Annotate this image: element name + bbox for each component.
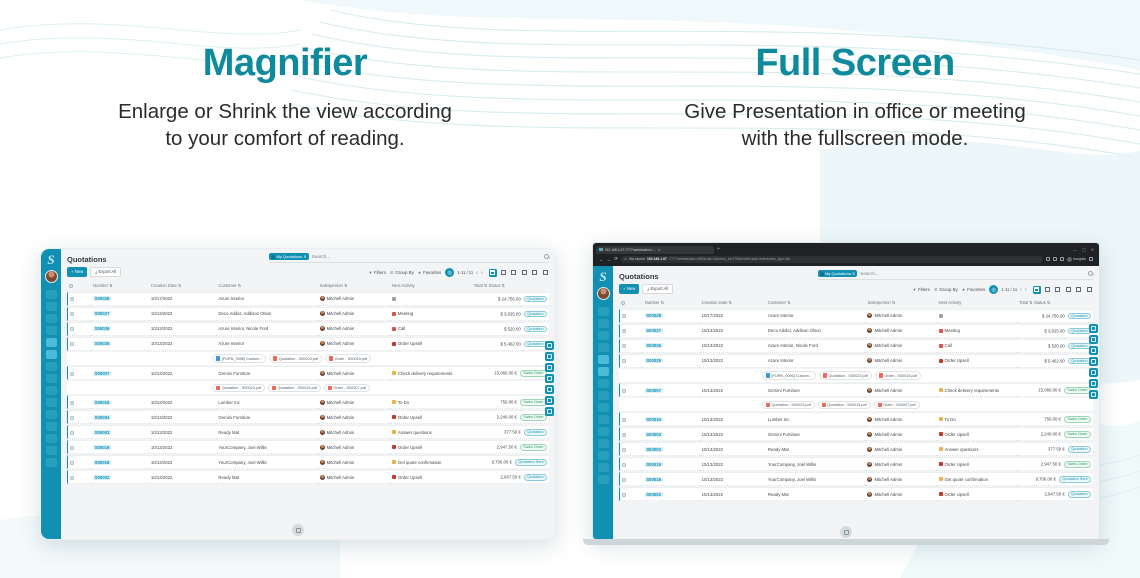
cell-customer: Gemini Furniture (766, 427, 866, 441)
attachment-chip[interactable]: Quotation - S00023.pdf (269, 354, 322, 362)
row-checkbox[interactable] (619, 383, 643, 397)
col-creation-date[interactable]: Creation Date ⇅ (700, 298, 766, 308)
odoo-app-tablet: S Q (41, 249, 555, 539)
cell-creation-date: 10/13/2022 (700, 383, 766, 397)
calendar-icon (392, 312, 396, 316)
table-row[interactable]: S0002610/13/2022Azure Interior, Nicole F… (67, 322, 549, 336)
pdf-icon (878, 403, 882, 408)
browser-tab[interactable]: 192.168.1.67:7777/web#action=... ✕ (596, 246, 714, 254)
table-row[interactable]: S0001610/13/2022Lumber IncMitchell Admin… (619, 412, 1093, 426)
pager-range: 1-11 / 11 (1001, 287, 1017, 292)
cell-number[interactable]: S00016 (91, 395, 149, 409)
question-icon (392, 430, 396, 434)
cell-number[interactable]: S00027 (643, 324, 700, 338)
cell-customer: Azure Interior, Nicole Ford (216, 322, 317, 336)
magnifier-icon: ◎ (448, 270, 452, 276)
incognito-icon (1067, 257, 1072, 262)
magnifier-toggle-button[interactable]: ◎ (989, 285, 998, 294)
table-row[interactable]: S0000410/13/2022Gemini FurnitureMitchell… (67, 410, 549, 424)
sidebar-icon-reporting[interactable] (46, 350, 57, 359)
activity-view-icon[interactable] (1085, 286, 1093, 294)
pager-next-icon[interactable]: › (481, 270, 483, 276)
sidebar-icon-purchase[interactable] (598, 391, 609, 400)
url-bar[interactable]: ⚠ Not secure 192.168.1.67 :7777/web#acti… (621, 256, 1043, 264)
attachment-row: Quotation - S00023.pdfQuotation - S00015… (67, 381, 549, 394)
calendar-view-icon[interactable] (1054, 286, 1062, 294)
cell-number[interactable]: S00027 (91, 307, 149, 321)
cell-next-activity: Call (937, 339, 1018, 353)
cell-number[interactable]: S00025 (91, 337, 149, 351)
attachment-chip[interactable]: Order - S00007.pdf (324, 384, 370, 392)
search-icon[interactable] (1088, 271, 1093, 276)
reload-icon[interactable]: ⟳ (614, 256, 618, 262)
cell-total-status: $ 5,462.00Quotation (1017, 354, 1093, 368)
avatar (320, 460, 325, 465)
attachment-label: Quotation - S00023.pdf (829, 374, 868, 378)
table-row[interactable]: S0002510/13/2022Azure InteriorMitchell A… (619, 354, 1093, 368)
cell-number[interactable]: S00019 (91, 440, 149, 454)
browser-tab-strip[interactable]: 192.168.1.67:7777/web#action=... ✕ + — ▢… (596, 245, 1096, 254)
view-switcher[interactable] (1033, 286, 1094, 294)
col-number[interactable]: Number ⇅ (91, 281, 149, 291)
sidebar-icon-inventory[interactable] (46, 362, 57, 371)
group-by-button[interactable]: ☰ Group By (390, 270, 414, 275)
sidebar-icon-messages[interactable] (46, 290, 57, 299)
table-row[interactable]: S0000310/13/2022Ready MatMitchell AdminA… (67, 425, 549, 439)
kanban-view-icon[interactable] (1043, 286, 1051, 294)
sidebar-icon-messages[interactable] (598, 307, 609, 316)
row-checkbox[interactable] (67, 337, 91, 351)
table-row[interactable]: S0000710/13/2022Gemini FurnitureMitchell… (619, 383, 1093, 397)
table-row[interactable]: S0000410/13/2022Gemini FurnitureMitchell… (619, 427, 1093, 441)
col-number[interactable]: Number ⇅ (643, 298, 700, 308)
desc-line-1: Enlarge or Shrink the view according (118, 100, 452, 123)
cell-salesperson: Mitchell Admin (318, 425, 390, 439)
sidebar-icon-recruitment[interactable] (598, 451, 609, 460)
cell-total-status: 2,947.50 €Sales Order (472, 440, 549, 454)
back-icon[interactable]: ← (599, 257, 604, 262)
attachment-chip[interactable]: [FURN_0096] Custom... (212, 354, 266, 362)
cell-creation-date: 10/13/2022 (149, 337, 216, 351)
row-checkbox[interactable] (619, 442, 643, 456)
row-checkbox[interactable] (67, 425, 91, 439)
cell-total-status: 377.50 €Quotation (472, 425, 549, 439)
group-by-button[interactable]: ☰ Group By (934, 287, 958, 292)
pivot-view-icon[interactable] (520, 269, 528, 277)
col-next-activity[interactable]: Next Activity (937, 298, 1018, 308)
cell-creation-date: 10/13/2022 (700, 427, 766, 441)
table-row[interactable]: S0000710/13/2022Gemini FurnitureMitchell… (67, 366, 549, 380)
export-all-button[interactable]: ⤓ Export All (90, 267, 121, 277)
cell-salesperson: Mitchell Admin (318, 366, 390, 380)
close-window-icon[interactable]: ✕ (1091, 247, 1094, 252)
col-creation-date[interactable]: Creation Date ⇅ (149, 281, 216, 291)
sidebar-icon-sales[interactable] (598, 355, 609, 364)
tablet-home-button[interactable] (292, 524, 304, 536)
cell-creation-date: 10/13/2022 (700, 457, 766, 471)
row-checkbox[interactable] (67, 366, 91, 380)
sidebar-icon-filter[interactable] (46, 302, 57, 311)
laptop-base (583, 539, 1109, 545)
print-icon[interactable] (545, 374, 554, 383)
upsell-icon (392, 475, 396, 479)
view-switcher[interactable] (489, 269, 550, 277)
table-row[interactable]: S0002510/13/2022Azure InteriorMitchell A… (67, 337, 549, 351)
extension-icon[interactable] (1053, 257, 1057, 261)
camera-icon[interactable] (545, 385, 554, 394)
search-facet-my-quotations[interactable]: My Quotations ✕ (818, 270, 857, 277)
cell-salesperson: Mitchell Admin (318, 307, 390, 321)
sidebar-icon-helpdesk[interactable] (46, 446, 57, 455)
cell-number[interactable]: S00026 (643, 339, 700, 353)
col-total-status[interactable]: Total ⇅ Status ⇅ (472, 281, 549, 291)
pager-range: 1-11 / 11 (457, 270, 473, 275)
pager-prev-icon[interactable]: ‹ (1020, 287, 1022, 293)
zoom-out-icon[interactable] (1089, 335, 1098, 344)
calendar-view-icon[interactable] (510, 269, 518, 277)
attachment-label: Order - S00007.pdf (883, 403, 916, 407)
quotations-table: Number ⇅ Creation Date ⇅ Customer ⇅ Sale… (67, 280, 549, 485)
attachment-cell: Quotation - S00023.pdfQuotation - S00015… (619, 398, 1093, 411)
attachment-chip[interactable]: Order - S00007.pdf (874, 401, 920, 409)
search-bar[interactable]: My Quotations ✕ Search... (818, 270, 1093, 280)
pdf-icon (329, 356, 333, 361)
attachment-chip[interactable]: Order - S00015.pdf (325, 354, 371, 362)
facet-icon (820, 272, 824, 276)
cell-creation-date: 10/13/2022 (149, 322, 216, 336)
minimize-icon[interactable]: — (1073, 247, 1077, 252)
col-next-activity[interactable]: Next Activity (390, 281, 472, 291)
cell-number[interactable]: S00028 (91, 292, 149, 306)
search-input[interactable]: Search... (860, 271, 1085, 276)
table-row[interactable]: S0001910/13/2022YourCompany, Joel Willis… (619, 457, 1093, 471)
sidebar-icon-website[interactable] (598, 427, 609, 436)
export-all-label: Export All (651, 286, 669, 291)
cell-salesperson: Mitchell Admin (865, 412, 936, 426)
kanban-view-icon[interactable] (499, 269, 507, 277)
graph-view-icon[interactable] (531, 269, 539, 277)
status-badge: Sales Order (1064, 431, 1091, 438)
quotations-table-body: S0002810/17/2022Azure InteriorMitchell A… (67, 292, 549, 484)
cell-total-status: 15,060.00 €Sales Order (472, 366, 549, 380)
cell-next-activity (937, 309, 1018, 323)
table-row[interactable]: S0002810/17/2022Azure InteriorMitchell A… (619, 309, 1093, 323)
magnifier-toggle-button[interactable]: ◎ (445, 268, 454, 277)
new-button[interactable]: + New (67, 267, 87, 277)
sidebar-icon-calendar[interactable] (598, 331, 609, 340)
pager-next-icon[interactable]: › (1025, 287, 1027, 293)
cell-number[interactable]: S00004 (643, 427, 700, 441)
search-input[interactable]: Search... (312, 254, 541, 259)
col-total-status[interactable]: Total ⇅ Status ⇅ (1017, 298, 1093, 308)
cell-salesperson: Mitchell Admin (318, 292, 390, 306)
magnifier-toolbar[interactable] (1089, 324, 1098, 399)
close-icon[interactable]: ✕ (303, 254, 306, 259)
cell-salesperson: Mitchell Admin (865, 339, 936, 353)
cell-number[interactable]: S00003 (643, 442, 700, 456)
cell-creation-date: 10/13/2022 (700, 487, 766, 501)
pdf-icon (328, 386, 332, 391)
star-icon: ★ (962, 288, 966, 292)
bookmark-icon[interactable] (1046, 257, 1050, 261)
col-salesperson[interactable]: Salesperson ⇅ (318, 281, 390, 291)
sidebar-icon-manufacturing[interactable] (46, 386, 57, 395)
row-checkbox[interactable] (619, 487, 643, 501)
avatar[interactable] (45, 270, 58, 283)
attachment-chip[interactable]: Quotation - S00023.pdf (212, 384, 265, 392)
sidebar-icon-recruitment[interactable] (46, 434, 57, 443)
feature-desc-magnifier: Enlarge or Shrink the view according to … (0, 98, 570, 152)
status-badge: Sales Order (520, 444, 547, 451)
export-all-button[interactable]: ⤓ Export All (642, 284, 673, 294)
sidebar-icon-helpdesk[interactable] (598, 463, 609, 472)
list-view-icon[interactable] (1033, 286, 1041, 294)
incognito-badge[interactable]: Incognito (1067, 257, 1086, 262)
attachment-chip[interactable]: Quotation - S00023.pdf (762, 401, 815, 409)
print-icon[interactable] (1089, 357, 1098, 366)
pdf-icon (822, 403, 826, 408)
row-checkbox[interactable] (619, 427, 643, 441)
new-button[interactable]: + New (619, 284, 639, 294)
table-row[interactable]: S0001610/13/2022Lumber IncMitchell Admin… (67, 395, 549, 409)
sidebar-icon-contacts[interactable] (46, 326, 57, 335)
row-checkbox[interactable] (619, 339, 643, 353)
profile-icon[interactable] (1060, 257, 1064, 261)
avatar (867, 417, 872, 422)
row-checkbox[interactable] (619, 309, 643, 323)
avatar (867, 477, 872, 482)
browser-address-row[interactable]: ← → ⟳ ⚠ Not secure 192.168.1.67 :7777/we… (596, 254, 1096, 266)
sidebar-icon-inventory[interactable] (598, 379, 609, 388)
row-checkbox[interactable] (67, 395, 91, 409)
quotations-table-wrapper[interactable]: Number ⇅ Creation Date ⇅ Customer ⇅ Sale… (613, 297, 1099, 540)
cell-number[interactable]: S00007 (91, 366, 149, 380)
keyboard-icon[interactable] (545, 396, 554, 405)
table-row[interactable]: S0002710/13/2022Deco Addict, Addison Ols… (619, 324, 1093, 338)
sidebar-icon-filter[interactable] (598, 319, 609, 328)
close-icon[interactable]: ✕ (852, 271, 855, 276)
brand-logo-icon: S (596, 269, 611, 284)
zoom-out-icon[interactable] (545, 352, 554, 361)
url-host: 192.168.1.67 (647, 257, 667, 261)
cell-next-activity: Order Upsell (937, 354, 1018, 368)
magnifier-toolbar[interactable] (545, 341, 554, 416)
search-icon[interactable] (544, 254, 549, 259)
search-bar[interactable]: My Quotations ✕ Search... (269, 253, 549, 263)
avatar (320, 475, 325, 480)
table-row[interactable]: S0000210/13/2022Ready MatMitchell AdminO… (67, 470, 549, 484)
attachment-chip[interactable]: Quotation - S00023.pdf (819, 371, 872, 379)
filters-button[interactable]: ▼ Filters (369, 270, 386, 275)
row-checkbox[interactable] (619, 354, 643, 368)
cell-creation-date: 10/13/2022 (149, 470, 216, 484)
search-facet-my-quotations[interactable]: My Quotations ✕ (269, 253, 308, 260)
cell-salesperson: Mitchell Admin (865, 324, 936, 338)
row-checkbox[interactable] (619, 324, 643, 338)
cell-customer: Ready Mat (216, 425, 317, 439)
desc-line-1: Give Presentation in office or meeting (684, 100, 1025, 123)
sidebar-icon-accounting[interactable] (46, 398, 57, 407)
row-checkbox[interactable] (67, 322, 91, 336)
table-row[interactable]: S0001910/13/2022YourCompany, Joel Willis… (67, 440, 549, 454)
menu-icon[interactable] (1089, 257, 1093, 261)
cell-creation-date: 10/13/2022 (149, 455, 216, 469)
cell-total-status: $ 5,462.00Quotation (472, 337, 549, 351)
attachment-label: [FURN_0096] Custom... (772, 374, 813, 378)
cell-number[interactable]: S00025 (643, 354, 700, 368)
cell-number[interactable]: S00003 (91, 425, 149, 439)
page-title: Quotations (619, 272, 673, 281)
cell-total-status: 2,240.00 €Sales Order (472, 410, 549, 424)
forward-icon[interactable]: → (607, 257, 612, 262)
close-icon[interactable]: ✕ (658, 248, 661, 252)
group-by-icon: ☰ (390, 271, 394, 275)
upsell-icon (392, 342, 396, 346)
pager[interactable]: ◎ 1-11 / 11 ‹ › (445, 268, 482, 277)
export-icon: ⤓ (95, 269, 97, 274)
pager-prev-icon[interactable]: ‹ (476, 270, 478, 276)
sidebar-icon-website[interactable] (46, 410, 57, 419)
cell-customer: Azure Interior (216, 337, 317, 351)
quotations-table-wrapper[interactable]: Number ⇅ Creation Date ⇅ Customer ⇅ Sale… (61, 280, 555, 539)
fullscreen-icon[interactable] (545, 363, 554, 372)
favorites-button[interactable]: ★ Favorites (418, 270, 441, 275)
settings-icon[interactable] (1089, 390, 1098, 399)
sidebar-icon-employees[interactable] (46, 422, 57, 431)
select-all-checkbox[interactable] (619, 298, 643, 308)
cell-number[interactable]: S00026 (91, 322, 149, 336)
sidebar-icon-contacts[interactable] (598, 343, 609, 352)
attachment-chip[interactable]: Order - S00015.pdf (875, 371, 921, 379)
upsell-icon (939, 462, 943, 466)
row-checkbox[interactable] (67, 307, 91, 321)
sidebar-icon-accounting[interactable] (598, 415, 609, 424)
table-row[interactable]: S0001810/13/2022YourCompany, Joel Willis… (619, 472, 1093, 486)
row-checkbox[interactable] (67, 292, 91, 306)
table-row[interactable]: S0002810/17/2022Azure InteriorMitchell A… (67, 292, 549, 306)
question-icon (939, 447, 943, 451)
cell-number[interactable]: S00028 (643, 309, 700, 323)
camera-icon[interactable] (1089, 368, 1098, 377)
sidebar-icon-settings[interactable] (598, 475, 609, 484)
app-sidebar[interactable]: S (41, 249, 61, 539)
sidebar-icon-reporting[interactable] (598, 367, 609, 376)
sidebar-icon-calendar[interactable] (46, 314, 57, 323)
todo-icon (392, 400, 396, 404)
cell-number[interactable]: S00016 (643, 412, 700, 426)
sidebar-icon-settings[interactable] (46, 458, 57, 467)
sidebar-icon-purchase[interactable] (46, 374, 57, 383)
browser-toolbar-icons[interactable]: Incognito (1046, 257, 1093, 262)
row-checkbox[interactable] (67, 470, 91, 484)
col-customer[interactable]: Customer ⇅ (216, 281, 317, 291)
cell-number[interactable]: S00002 (91, 470, 149, 484)
pdf-icon (273, 356, 277, 361)
filters-button[interactable]: ▼ Filters (913, 287, 930, 292)
avatar (320, 445, 325, 450)
cell-creation-date: 10/13/2022 (700, 412, 766, 426)
cell-next-activity: Check delivery requirements (937, 383, 1018, 397)
cell-number[interactable]: S00007 (643, 383, 700, 397)
upsell-icon (939, 359, 943, 363)
row-checkbox[interactable] (67, 455, 91, 469)
feature-title-fullscreen: Full Screen (570, 44, 1140, 84)
attachment-chip[interactable]: Quotation - S00015.pdf (818, 401, 871, 409)
cell-next-activity: Get quote confirmation (390, 455, 472, 469)
row-checkbox[interactable] (67, 410, 91, 424)
cell-salesperson: Mitchell Admin (865, 457, 936, 471)
attachment-label: Quotation - S00023.pdf (279, 357, 318, 361)
row-checkbox[interactable] (619, 412, 643, 426)
maximize-icon[interactable]: ▢ (1082, 247, 1086, 252)
cell-total-status: 9,706.00 €Quotation Sent (1017, 472, 1093, 486)
graph-view-icon[interactable] (1075, 286, 1083, 294)
status-badge: Sales Order (520, 399, 547, 406)
select-all-checkbox[interactable] (67, 281, 91, 291)
fullscreen-icon[interactable] (1089, 346, 1098, 355)
keyboard-icon[interactable] (1089, 379, 1098, 388)
table-header-row: Number ⇅ Creation Date ⇅ Customer ⇅ Sale… (67, 281, 549, 291)
pager[interactable]: ◎ 1-11 / 11 ‹ › (989, 285, 1026, 294)
row-checkbox[interactable] (619, 472, 643, 486)
table-row[interactable]: S0000310/13/2022Ready MatMitchell AdminA… (619, 442, 1093, 456)
attachment-chip[interactable]: Quotation - S00015.pdf (268, 384, 321, 392)
cell-salesperson: Mitchell Admin (865, 383, 936, 397)
favorites-button[interactable]: ★ Favorites (962, 287, 985, 292)
sidebar-icon-manufacturing[interactable] (598, 403, 609, 412)
cell-number[interactable]: S00018 (91, 455, 149, 469)
cell-number[interactable]: S00002 (643, 487, 700, 501)
col-salesperson[interactable]: Salesperson ⇅ (865, 298, 936, 308)
scroll-to-top-button[interactable] (840, 526, 852, 538)
export-all-label: Export All (99, 269, 117, 274)
settings-icon[interactable] (545, 407, 554, 416)
status-badge: Quotation (524, 296, 547, 303)
avatar[interactable] (597, 287, 610, 300)
activity-view-icon[interactable] (541, 269, 549, 277)
sidebar-icon-employees[interactable] (598, 439, 609, 448)
quotations-table: Number ⇅ Creation Date ⇅ Customer ⇅ Sale… (619, 297, 1093, 502)
cell-number[interactable]: S00004 (91, 410, 149, 424)
pivot-view-icon[interactable] (1064, 286, 1072, 294)
attachment-row: [FURN_0096] Custom...Quotation - S00023.… (67, 352, 549, 365)
sidebar-icon-sales[interactable] (46, 338, 57, 347)
row-checkbox[interactable] (67, 440, 91, 454)
table-row[interactable]: S0002610/13/2022Azure Interior, Nicole F… (619, 339, 1093, 353)
phone-icon (392, 327, 396, 331)
row-checkbox[interactable] (619, 457, 643, 471)
table-row[interactable]: S0001810/13/2022YourCompany, Joel Willis… (67, 455, 549, 469)
cell-total-status: 2,947.50 €Sales Order (1017, 457, 1093, 471)
avatar (867, 492, 872, 497)
cell-next-activity: Meeting (390, 307, 472, 321)
zoom-in-icon[interactable] (1089, 324, 1098, 333)
new-tab-icon[interactable]: + (717, 247, 720, 252)
note-icon (939, 477, 943, 481)
zoom-in-icon[interactable] (545, 341, 554, 350)
table-row[interactable]: S0002710/13/2022Deco Addict, Addison Ols… (67, 307, 549, 321)
favorites-label: Favorites (423, 270, 441, 275)
window-controls[interactable]: — ▢ ✕ (1073, 247, 1096, 252)
cell-number[interactable]: S00019 (643, 457, 700, 471)
attachment-chip[interactable]: [FURN_0096] Custom... (762, 371, 816, 379)
list-view-icon[interactable] (489, 269, 497, 277)
table-row[interactable]: S0000210/13/2022Ready MatMitchell AdminO… (619, 487, 1093, 501)
cell-number[interactable]: S00018 (643, 472, 700, 486)
cell-creation-date: 10/13/2022 (700, 339, 766, 353)
app-sidebar[interactable]: S (593, 266, 613, 540)
col-customer[interactable]: Customer ⇅ (766, 298, 866, 308)
